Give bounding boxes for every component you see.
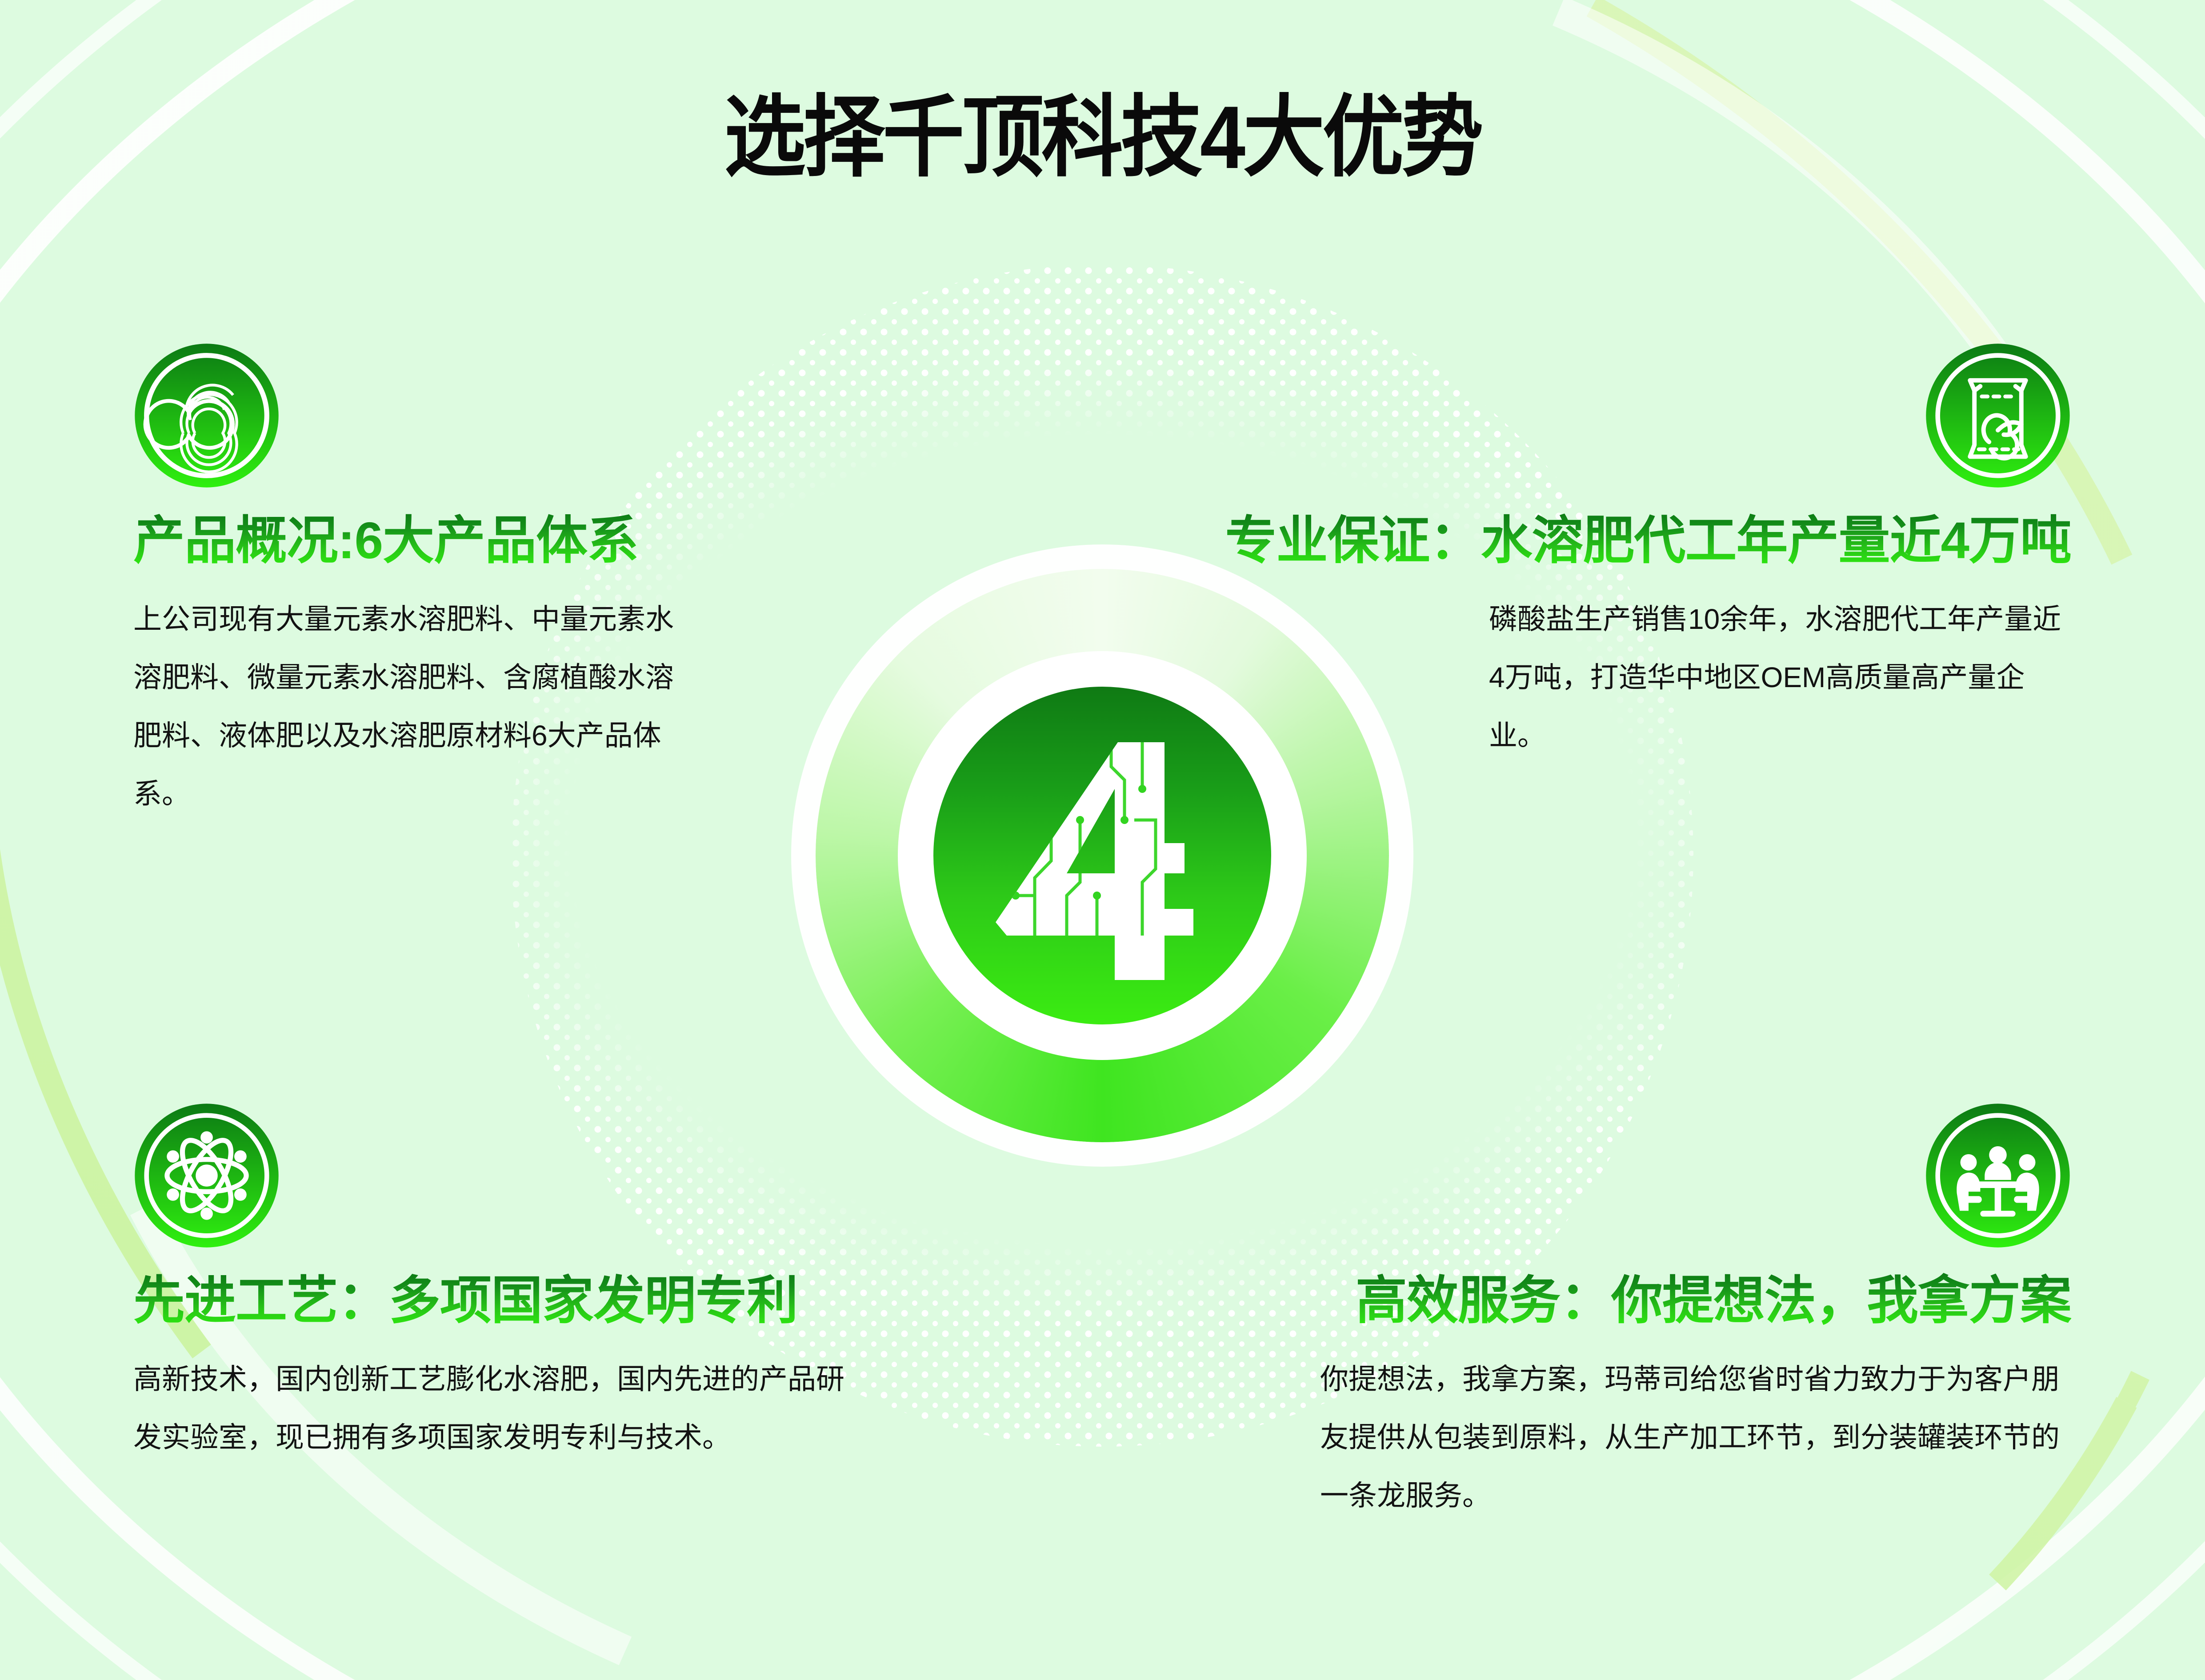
atom-icon	[133, 1102, 280, 1249]
advantage-card-top-right: 专业保证：水溶肥代工年产量近4万吨 磷酸盐生产销售10余年，水溶肥代工年产量近4…	[1191, 342, 2071, 765]
number-six-badge-icon	[133, 342, 280, 489]
advantage-card-bottom-left: 先进工艺：多项国家发明专利 高新技术，国内创新工艺膨化水溶肥，国内先进的产品研发…	[133, 1102, 884, 1467]
page-title: 选择千顶科技4大优势	[88, 91, 2117, 184]
advantage-card-top-left: 产品概况:6大产品体系 上公司现有大量元素水溶肥料、中量元素水溶肥料、微量元素水…	[133, 342, 707, 824]
advantage-body: 磷酸盐生产销售10余年，水溶肥代工年产量近4万吨，打造华中地区OEM高质量高产量…	[1489, 590, 2071, 765]
advantage-body: 高新技术，国内创新工艺膨化水溶肥，国内先进的产品研发实验室，现已拥有多项国家发明…	[133, 1350, 871, 1467]
meeting-team-icon	[1925, 1102, 2071, 1249]
advantage-body: 上公司现有大量元素水溶肥料、中量元素水溶肥料、微量元素水溶肥料、含腐植酸水溶肥料…	[133, 590, 680, 824]
advantage-heading: 产品概况:6大产品体系	[133, 512, 707, 570]
advantage-heading: 高效服务：你提想法，我拿方案	[1316, 1272, 2071, 1330]
advantage-body: 你提想法，我拿方案，玛蒂司给您省时省力致力于为客户朋友提供从包装到原料，从生产加…	[1320, 1350, 2071, 1525]
advantage-heading: 专业保证：水溶肥代工年产量近4万吨	[1191, 512, 2071, 570]
fertilizer-bag-icon	[1925, 342, 2071, 489]
advantage-heading: 先进工艺：多项国家发明专利	[133, 1272, 884, 1330]
advantage-card-bottom-right: 高效服务：你提想法，我拿方案 你提想法，我拿方案，玛蒂司给您省时省力致力于为客户…	[1316, 1102, 2071, 1525]
